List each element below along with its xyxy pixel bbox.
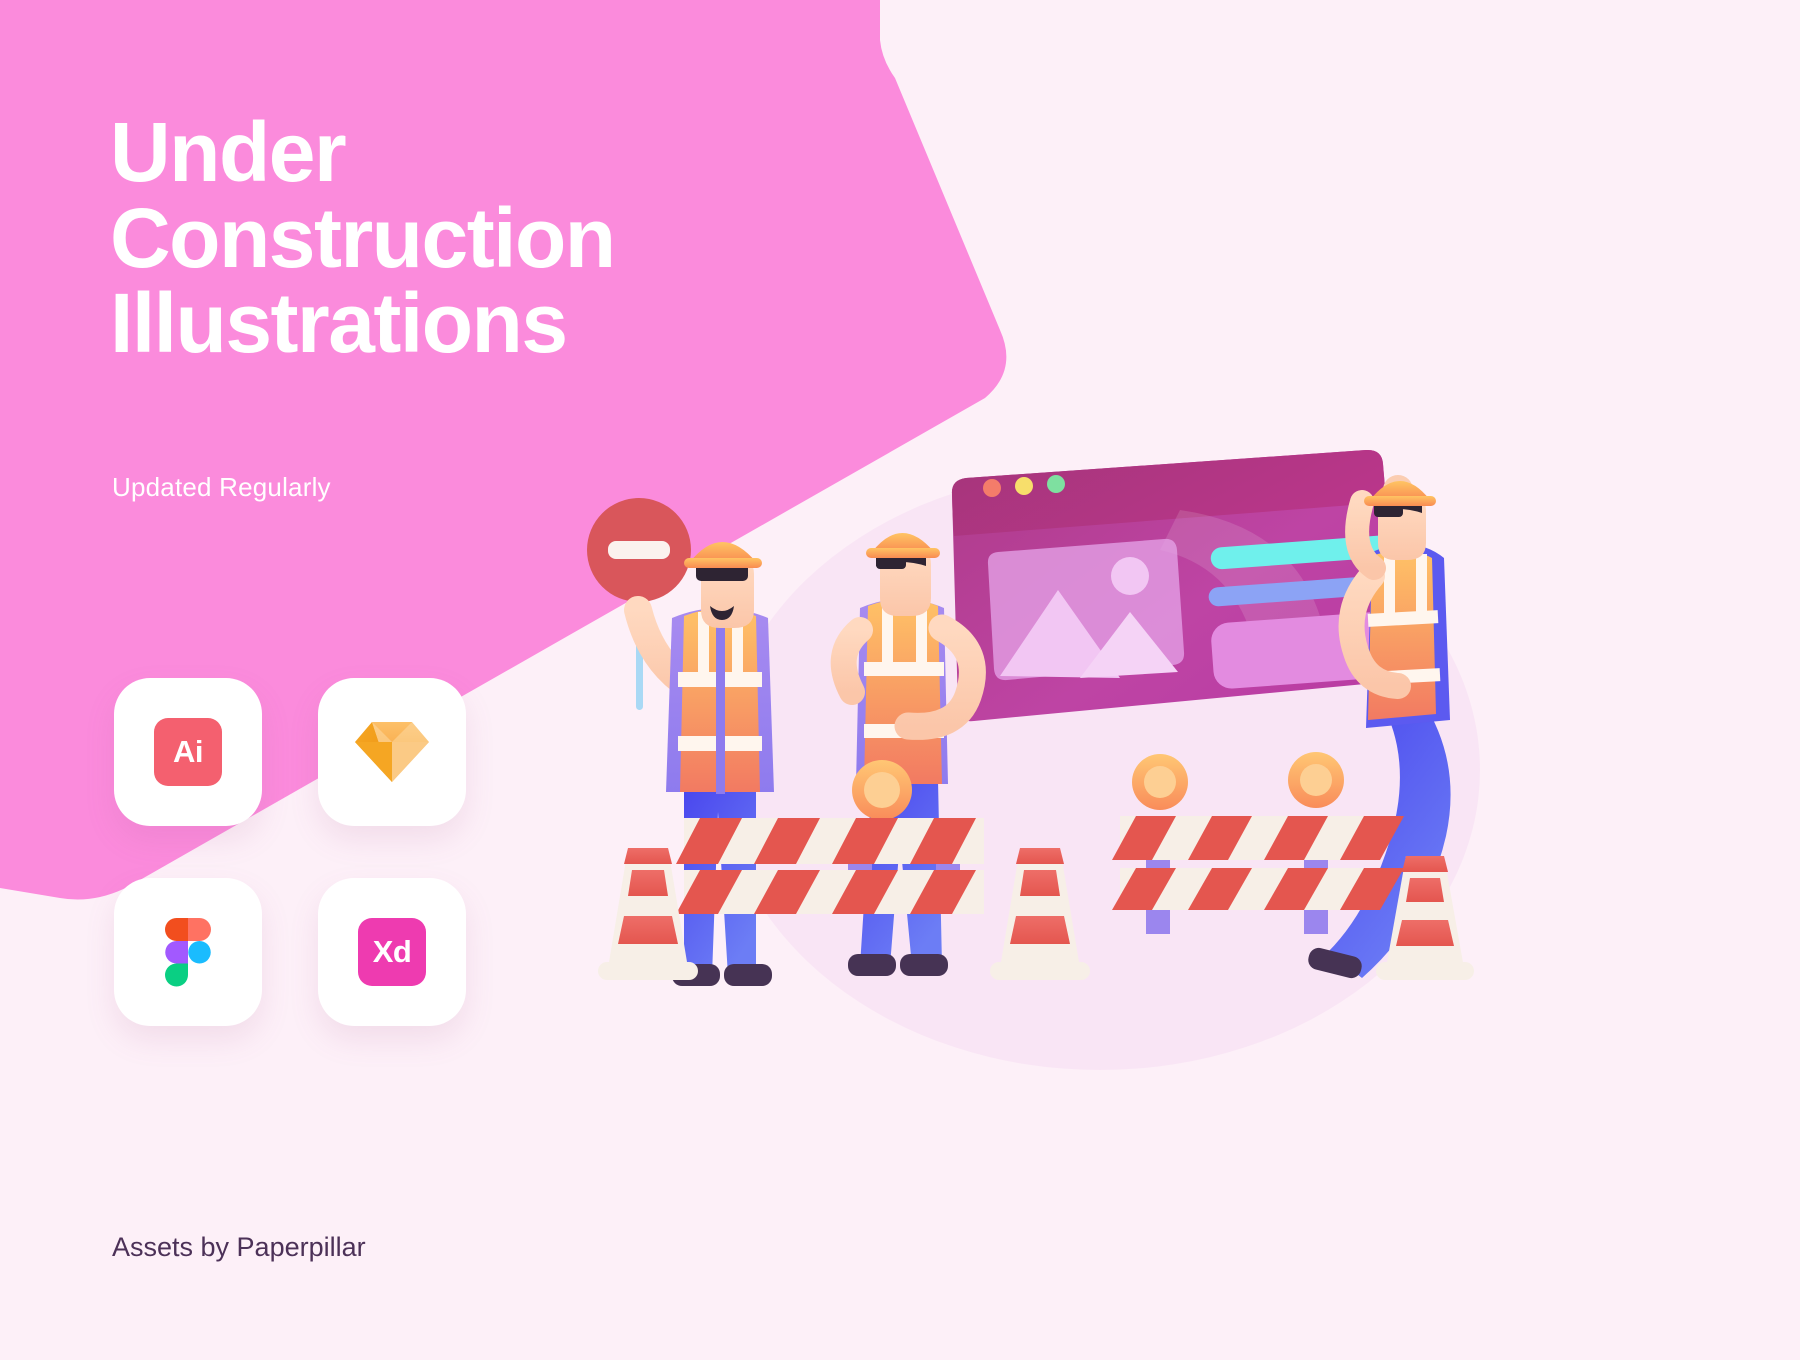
under-construction-illustration: [560, 440, 1560, 1040]
warning-lamp-right-a-core: [1144, 766, 1176, 798]
traffic-light-red[interactable]: [983, 479, 1001, 497]
footer-credit: Assets by Paperpillar: [112, 1232, 366, 1263]
worker2-vest-stripe-1: [864, 662, 944, 676]
sketch-diamond-icon: [355, 720, 429, 784]
worker3-sunglasses: [1374, 506, 1403, 517]
worker2-sunglasses: [876, 558, 906, 569]
subtitle: Updated Regularly: [112, 472, 331, 503]
stop-sign-bar: [608, 541, 670, 559]
format-card-sketch[interactable]: [318, 678, 466, 826]
traffic-light-yellow[interactable]: [1015, 477, 1033, 495]
adobe-illustrator-icon: Ai: [154, 718, 222, 786]
adobe-xd-icon: Xd: [358, 918, 426, 986]
image-placeholder: [988, 539, 1184, 680]
worker2-helmet-brim: [866, 548, 940, 558]
format-card-grid: Ai: [114, 678, 466, 1030]
cone-center-base: [990, 962, 1090, 980]
format-card-illustrator[interactable]: Ai: [114, 678, 262, 826]
warning-lamp-left-core: [864, 772, 900, 808]
poster-canvas: Under Construction Illustrations Updated…: [0, 0, 1800, 1360]
worker1-sunglasses: [696, 568, 748, 581]
worker3-vest-strap-r: [1416, 554, 1427, 616]
placeholder-sun-icon: [1111, 557, 1149, 595]
cone-right-base: [1376, 962, 1474, 980]
worker1-shoe-right: [724, 964, 772, 986]
headline-line-1: Under: [110, 110, 830, 196]
headline-line-2: Construction: [110, 196, 830, 282]
format-card-xd[interactable]: Xd: [318, 878, 466, 1026]
worker3-helmet-brim: [1364, 496, 1436, 506]
warning-lamp-right-b-core: [1300, 764, 1332, 796]
cone-left-base: [598, 962, 698, 980]
traffic-light-green[interactable]: [1047, 475, 1065, 493]
page-title: Under Construction Illustrations: [110, 110, 830, 367]
figma-icon: [165, 918, 211, 986]
worker2-shoe-left: [848, 954, 896, 976]
worker2-shoe-right: [900, 954, 948, 976]
worker1-helmet-brim: [684, 558, 762, 568]
headline-line-3: Illustrations: [110, 281, 830, 367]
worker3-vest-strap-l: [1384, 552, 1395, 614]
format-card-figma[interactable]: [114, 878, 262, 1026]
worker1-zipper: [716, 608, 725, 794]
